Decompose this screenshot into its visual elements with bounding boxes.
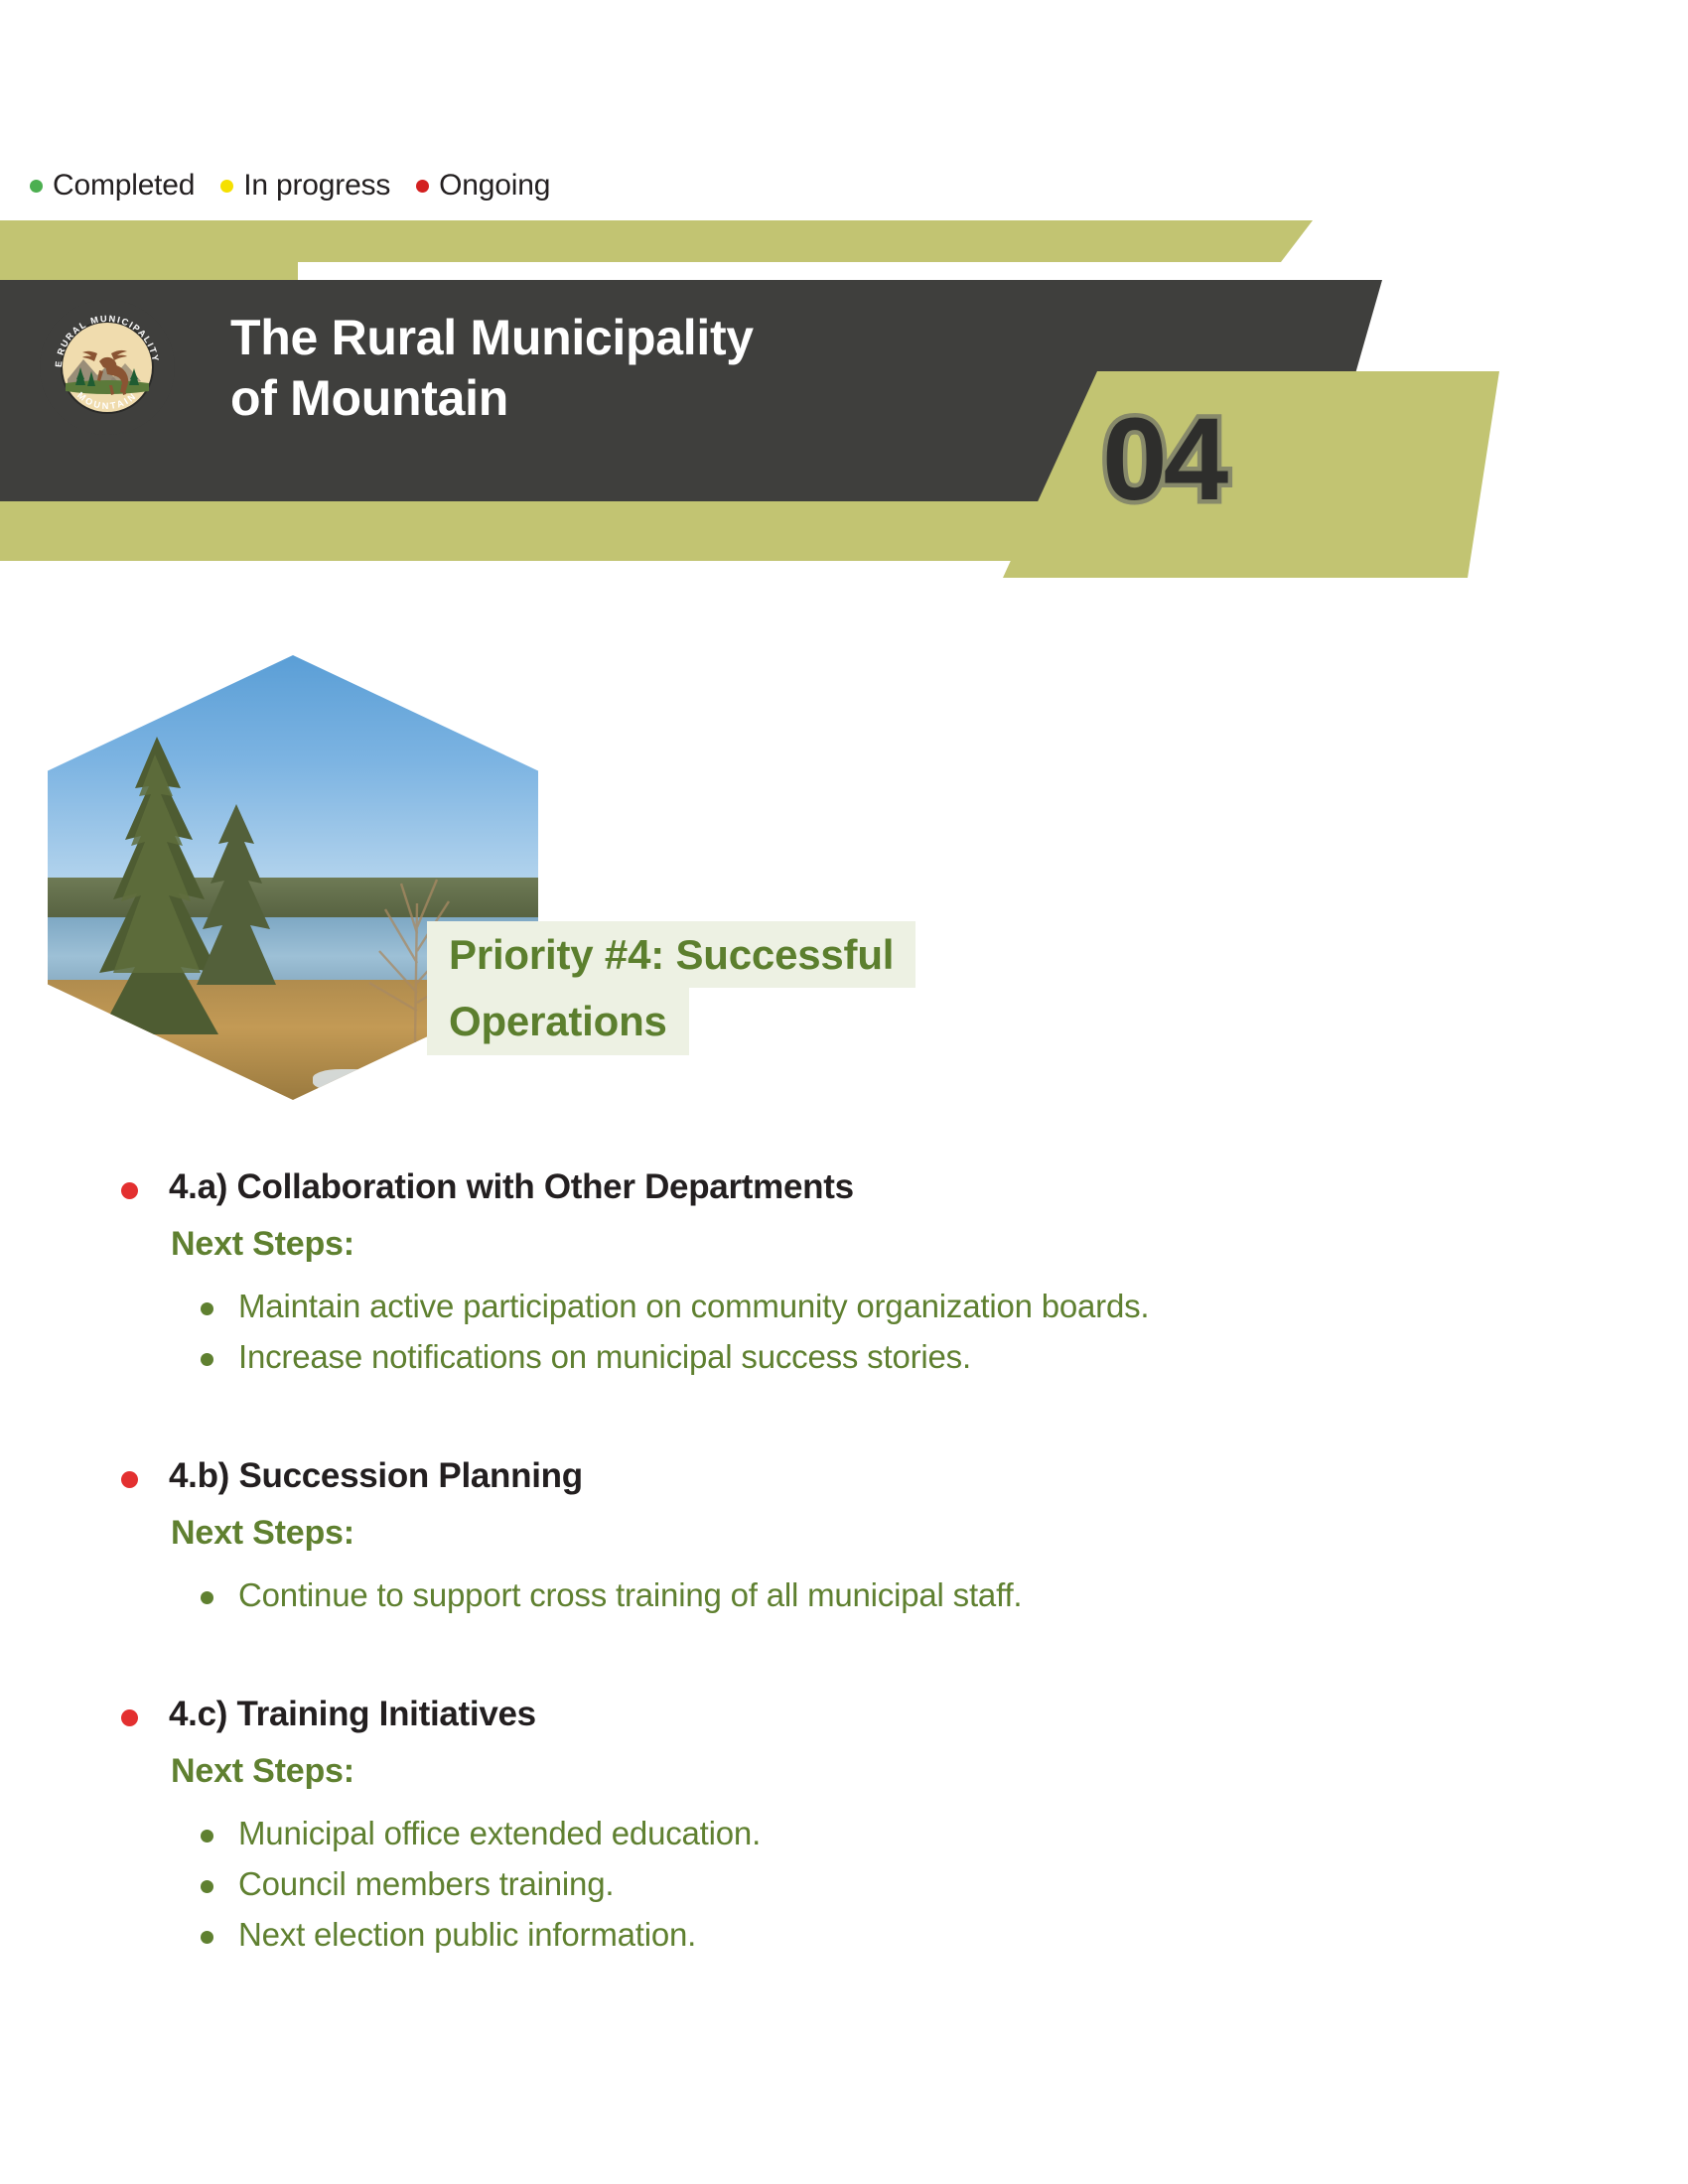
section-4a: 4.a) Collaboration with Other Department… (0, 1166, 1688, 1382)
list-item-text: Municipal office extended education. (238, 1815, 761, 1851)
banner-title: The Rural Municipality of Mountain (230, 308, 754, 429)
status-dot-icon-ongoing (121, 1471, 138, 1488)
list-item-text: Council members training. (238, 1865, 614, 1902)
section-4c-header: 4.c) Training Initiatives (0, 1694, 1688, 1735)
municipal-seal-icon: THE RURAL MUNICIPALITY OF MOUNTAIN (40, 300, 175, 435)
bullet-dot-icon (201, 1880, 213, 1893)
bullet-dot-icon (201, 1931, 213, 1944)
section-4c: 4.c) Training Initiatives Next Steps: Mu… (0, 1694, 1688, 1960)
section-4b-steps-list: Continue to support cross training of al… (0, 1570, 1688, 1620)
priority-sections: 4.a) Collaboration with Other Department… (0, 1166, 1688, 2015)
section-4c-next-steps-label: Next Steps: (0, 1751, 1688, 1792)
status-dot-icon-in-progress (220, 180, 233, 193)
list-item: Next election public information. (0, 1909, 1688, 1960)
status-dot-icon-ongoing (416, 180, 429, 193)
section-4b: 4.b) Succession Planning Next Steps: Con… (0, 1455, 1688, 1620)
bullet-dot-icon (201, 1830, 213, 1843)
status-legend: Completed In progress Ongoing (30, 171, 550, 201)
document-page: Completed In progress Ongoing (0, 0, 1688, 2184)
list-item: Maintain active participation on communi… (0, 1281, 1688, 1331)
photo-snow-patch (313, 1069, 382, 1091)
section-4c-steps-list: Municipal office extended education. Cou… (0, 1808, 1688, 1960)
bullet-dot-icon (201, 1591, 213, 1604)
page-title-line-1: Priority #4: Successful (427, 921, 915, 988)
legend-item-ongoing: Ongoing (416, 171, 550, 201)
list-item: Municipal office extended education. (0, 1808, 1688, 1858)
bullet-dot-icon (201, 1353, 213, 1366)
legend-item-in-progress: In progress (220, 171, 390, 201)
banner-page-number: 04 (1102, 401, 1224, 518)
page-title: Priority #4: Successful Operations (427, 921, 915, 1055)
page-title-line-2: Operations (427, 988, 689, 1054)
list-item: Continue to support cross training of al… (0, 1570, 1688, 1620)
page-header-banner: THE RURAL MUNICIPALITY OF MOUNTAIN The R… (0, 220, 1688, 578)
bullet-dot-icon (201, 1302, 213, 1315)
section-4c-title: 4.c) Training Initiatives (169, 1694, 536, 1735)
list-item: Council members training. (0, 1858, 1688, 1909)
legend-label-in-progress: In progress (243, 171, 390, 201)
section-4a-header: 4.a) Collaboration with Other Department… (0, 1166, 1688, 1208)
section-4b-title: 4.b) Succession Planning (169, 1455, 583, 1497)
photo-spruce-tree-small (177, 804, 296, 1052)
legend-item-completed: Completed (30, 171, 195, 201)
section-4b-header: 4.b) Succession Planning (0, 1455, 1688, 1497)
status-dot-icon-ongoing (121, 1182, 138, 1199)
section-4b-next-steps-label: Next Steps: (0, 1513, 1688, 1554)
list-item-text: Continue to support cross training of al… (238, 1576, 1022, 1613)
list-item-text: Next election public information. (238, 1916, 696, 1953)
list-item: Increase notifications on municipal succ… (0, 1331, 1688, 1382)
banner-accent-strip-top (0, 220, 1313, 262)
section-4a-title: 4.a) Collaboration with Other Department… (169, 1166, 854, 1208)
list-item-text: Increase notifications on municipal succ… (238, 1338, 971, 1375)
section-4a-steps-list: Maintain active participation on communi… (0, 1281, 1688, 1382)
legend-label-completed: Completed (53, 171, 195, 201)
section-4a-next-steps-label: Next Steps: (0, 1224, 1688, 1265)
legend-label-ongoing: Ongoing (439, 171, 550, 201)
status-dot-icon-ongoing (121, 1709, 138, 1726)
list-item-text: Maintain active participation on communi… (238, 1288, 1149, 1324)
status-dot-icon-completed (30, 180, 43, 193)
